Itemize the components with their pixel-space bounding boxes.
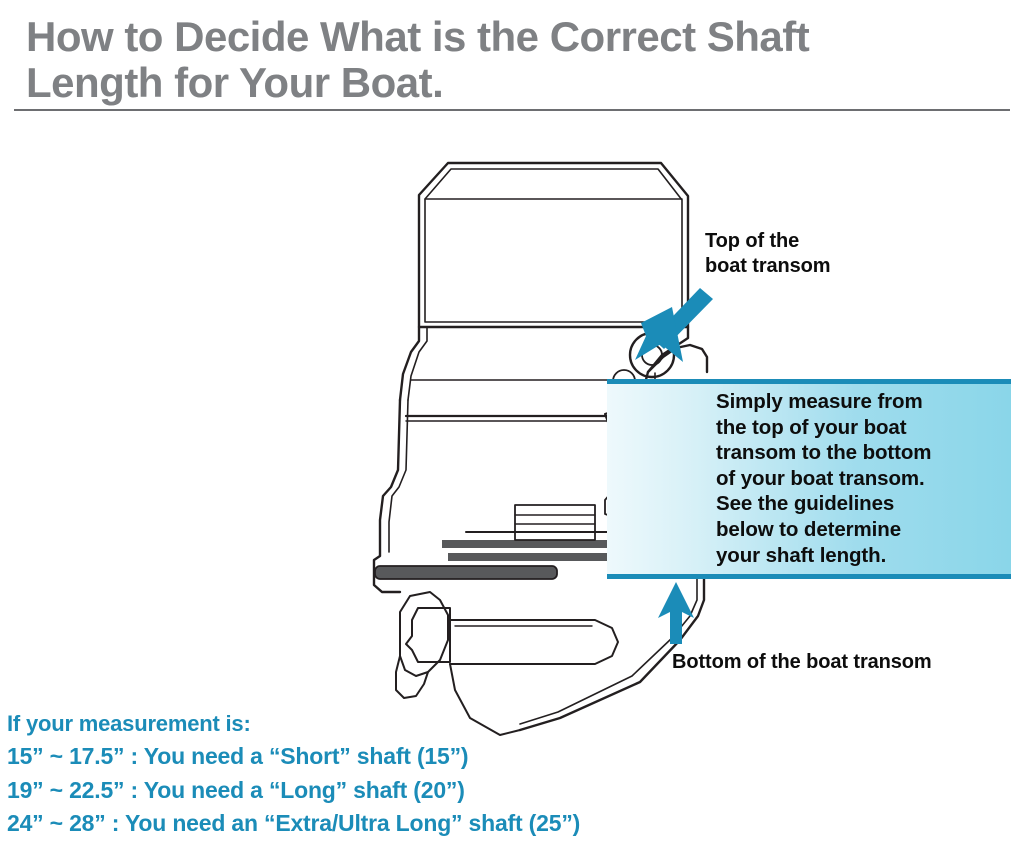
guideline-item-short: 15” ~ 17.5” : You need a “Short” shaft (… <box>7 740 767 774</box>
guideline-item-extra-long: 24” ~ 28” : You need an “Extra/Ultra Lon… <box>7 807 767 841</box>
infographic-page: How to Decide What is the Correct Shaft … <box>0 0 1024 851</box>
label-bottom-of-boat-transom: Bottom of the boat transom <box>672 650 932 675</box>
shaft-length-guidelines: If your measurement is: 15” ~ 17.5” : Yo… <box>7 708 767 841</box>
guidelines-heading: If your measurement is: <box>7 708 767 740</box>
bottom-transom-arrow-icon <box>658 582 694 644</box>
guideline-item-long: 19” ~ 22.5” : You need a “Long” shaft (2… <box>7 774 767 808</box>
top-transom-arrow-icon <box>635 288 713 362</box>
label-top-of-boat-transom: Top of the boat transom <box>705 229 830 279</box>
